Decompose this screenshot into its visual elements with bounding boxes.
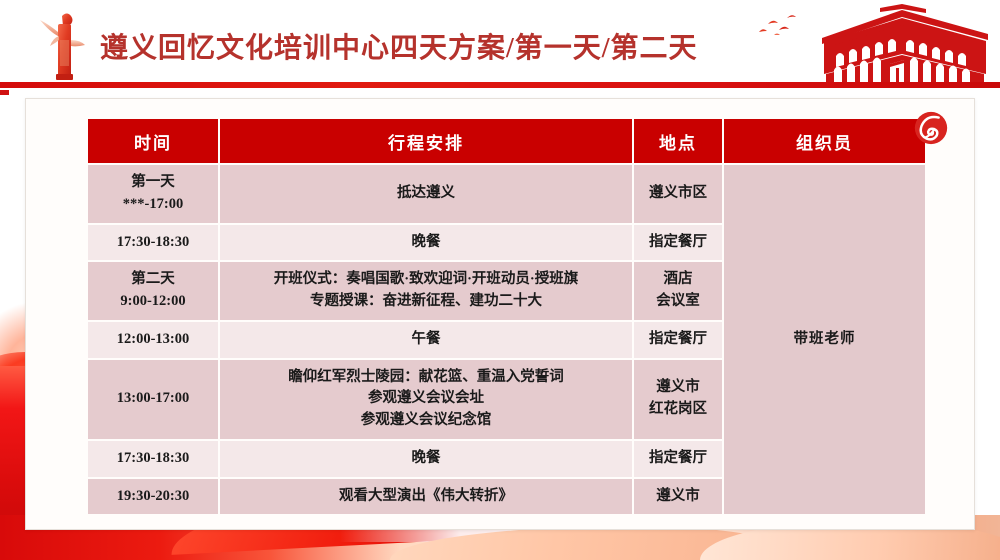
- cell-time-line: ***-17:00: [92, 194, 214, 216]
- cell-time-line: 19:30-20:30: [92, 486, 214, 508]
- cell-place-line: 遵义市: [638, 377, 718, 399]
- bottom-wave-peach-1: [390, 526, 810, 560]
- cell-itinerary: 晚餐: [220, 441, 632, 477]
- cell-place-line: 遵义市: [638, 486, 718, 508]
- monument-statue-icon: [32, 10, 94, 84]
- cell-time: 12:00-13:00: [88, 322, 218, 358]
- cell-itinerary: 晚餐: [220, 225, 632, 261]
- column-header-place[interactable]: 地点: [634, 119, 722, 163]
- column-header-time[interactable]: 时间: [88, 119, 218, 163]
- cell-time-line: 第一天: [92, 172, 214, 194]
- cell-itinerary-line: 晚餐: [224, 448, 628, 470]
- cell-itinerary-line: 抵达遵义: [224, 183, 628, 205]
- cell-organizer: 带班老师: [724, 165, 925, 514]
- cell-time: 第二天9:00-12:00: [88, 262, 218, 320]
- content-card: 时间 行程安排 地点 组织员 第一天***-17:00抵达遵义遵义市区带班老师1…: [25, 98, 975, 530]
- cell-place-line: 遵义市区: [638, 183, 718, 205]
- page-title: 遵义回忆文化培训中心四天方案/第一天/第二天: [100, 26, 698, 66]
- cell-place: 指定餐厅: [634, 225, 722, 261]
- cell-time: 19:30-20:30: [88, 479, 218, 515]
- brand-circle-logo-icon[interactable]: [912, 109, 950, 147]
- cell-time: 17:30-18:30: [88, 225, 218, 261]
- cell-time-line: 17:30-18:30: [92, 448, 214, 470]
- cell-place-line: 指定餐厅: [638, 448, 718, 470]
- cell-itinerary: 观看大型演出《伟大转折》: [220, 479, 632, 515]
- cell-itinerary-line: 参观遵义会议纪念馆: [224, 410, 628, 432]
- cell-place: 酒店会议室: [634, 262, 722, 320]
- table-header-row: 时间 行程安排 地点 组织员: [88, 119, 925, 163]
- cell-time-line: 17:30-18:30: [92, 232, 214, 254]
- schedule-table-body: 第一天***-17:00抵达遵义遵义市区带班老师17:30-18:30晚餐指定餐…: [88, 165, 925, 514]
- cell-itinerary-line: 参观遵义会议会址: [224, 388, 628, 410]
- cell-itinerary-line: 专题授课：奋进新征程、建功二十大: [224, 291, 628, 313]
- cell-place: 遵义市区: [634, 165, 722, 223]
- page-header: 遵义回忆文化培训中心四天方案/第一天/第二天: [0, 0, 1000, 90]
- cell-place-line: 酒店: [638, 269, 718, 291]
- cell-time-line: 9:00-12:00: [92, 291, 214, 313]
- schedule-table: 时间 行程安排 地点 组织员 第一天***-17:00抵达遵义遵义市区带班老师1…: [86, 117, 927, 516]
- flying-birds-icon: [755, 12, 805, 44]
- cell-place: 指定餐厅: [634, 322, 722, 358]
- cell-itinerary: 瞻仰红军烈士陵园：献花篮、重温入党誓词参观遵义会议会址参观遵义会议纪念馆: [220, 360, 632, 439]
- cell-place: 遵义市红花岗区: [634, 360, 722, 439]
- cell-place: 指定餐厅: [634, 441, 722, 477]
- cell-place-line: 指定餐厅: [638, 329, 718, 351]
- cell-itinerary: 开班仪式：奏唱国歌·致欢迎词·开班动员·授班旗专题授课：奋进新征程、建功二十大: [220, 262, 632, 320]
- cell-time: 13:00-17:00: [88, 360, 218, 439]
- cell-time-line: 第二天: [92, 269, 214, 291]
- cell-time: 17:30-18:30: [88, 441, 218, 477]
- column-header-itinerary[interactable]: 行程安排: [220, 119, 632, 163]
- column-header-organizer[interactable]: 组织员: [724, 119, 925, 163]
- header-bottom-rule: [0, 82, 1000, 88]
- cell-place-line: 红花岗区: [638, 399, 718, 421]
- cell-place: 遵义市: [634, 479, 722, 515]
- left-red-strip-bottom: [0, 366, 26, 560]
- cell-time-line: 13:00-17:00: [92, 388, 214, 410]
- cell-itinerary: 午餐: [220, 322, 632, 358]
- cell-itinerary: 抵达遵义: [220, 165, 632, 223]
- cell-itinerary-line: 晚餐: [224, 232, 628, 254]
- cell-itinerary-line: 开班仪式：奏唱国歌·致欢迎词·开班动员·授班旗: [224, 269, 628, 291]
- table-row: 第一天***-17:00抵达遵义遵义市区带班老师: [88, 165, 925, 223]
- cell-place-line: 会议室: [638, 291, 718, 313]
- cell-time: 第一天***-17:00: [88, 165, 218, 223]
- cell-itinerary-line: 午餐: [224, 329, 628, 351]
- cell-itinerary-line: 瞻仰红军烈士陵园：献花篮、重温入党誓词: [224, 367, 628, 389]
- cell-itinerary-line: 观看大型演出《伟大转折》: [224, 486, 628, 508]
- cell-time-line: 12:00-13:00: [92, 329, 214, 351]
- zunyi-conference-building-icon: [810, 4, 995, 84]
- cell-place-line: 指定餐厅: [638, 232, 718, 254]
